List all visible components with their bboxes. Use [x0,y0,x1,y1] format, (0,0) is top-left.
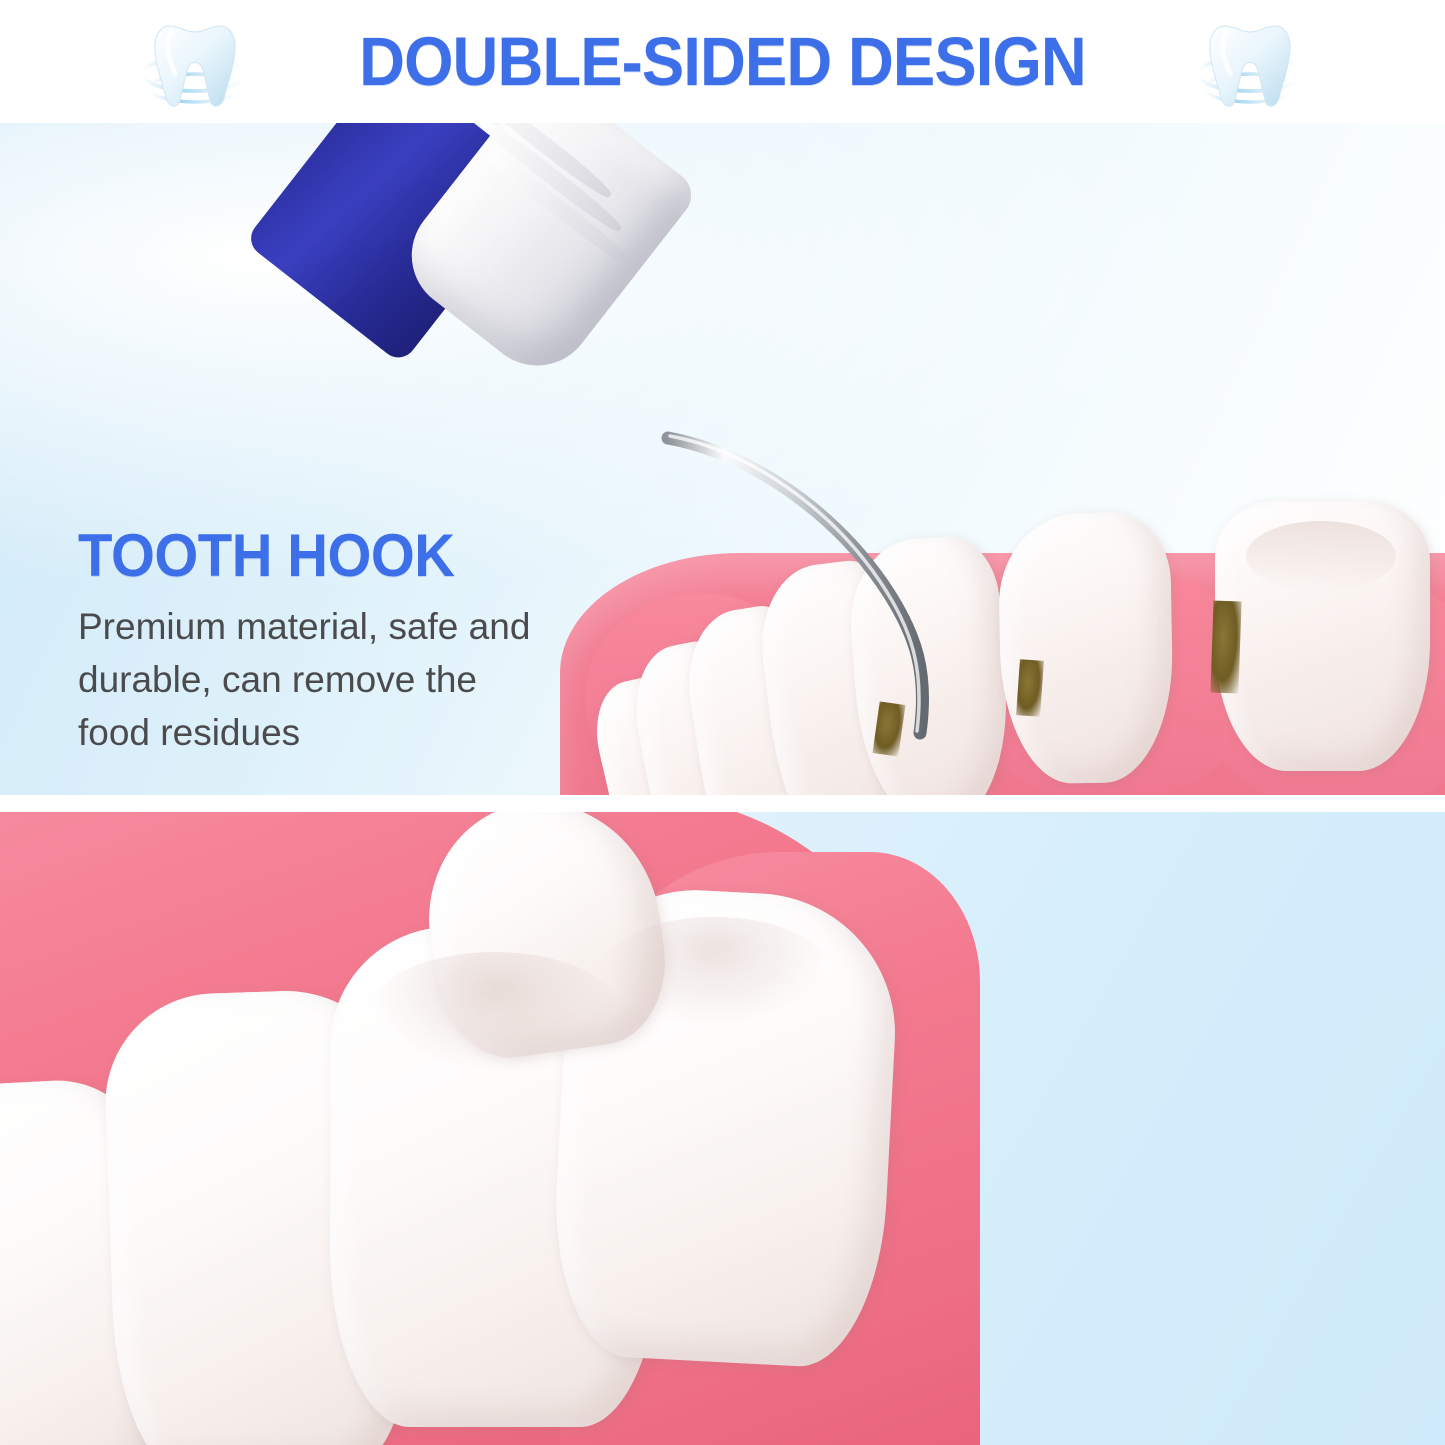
tooth-icon [1185,8,1315,118]
tartar-deposit [1016,659,1044,717]
molar-cusp-shading [1246,521,1396,591]
header-banner: DOUBLE-SIDED DESIGN [0,0,1445,123]
feature-body: Premium material, safe and durable, can … [78,600,638,759]
product-feature-infographic: DOUBLE-SIDED DESIGN [0,0,1445,1445]
tooth [998,512,1175,785]
tartar-deposit [1210,601,1241,694]
panel-stain-eraser: STAIN ERASER Effectively remove the toot… [0,812,1445,1445]
molar-groove-shading [600,917,830,1027]
body-line: food residues [78,706,638,759]
panel-divider [0,795,1445,812]
body-line: Premium material, safe and [78,600,638,653]
body-line: durable, can remove the [78,653,638,706]
molar-groove-shading [370,952,620,1072]
feature-heading: TOOTH HOOK [78,521,604,590]
dental-tool-handle [355,123,815,523]
feature-text-tooth-hook: TOOTH HOOK Premium material, safe and du… [78,521,638,759]
panel-tooth-hook: TOOTH HOOK Premium material, safe and du… [0,123,1445,795]
